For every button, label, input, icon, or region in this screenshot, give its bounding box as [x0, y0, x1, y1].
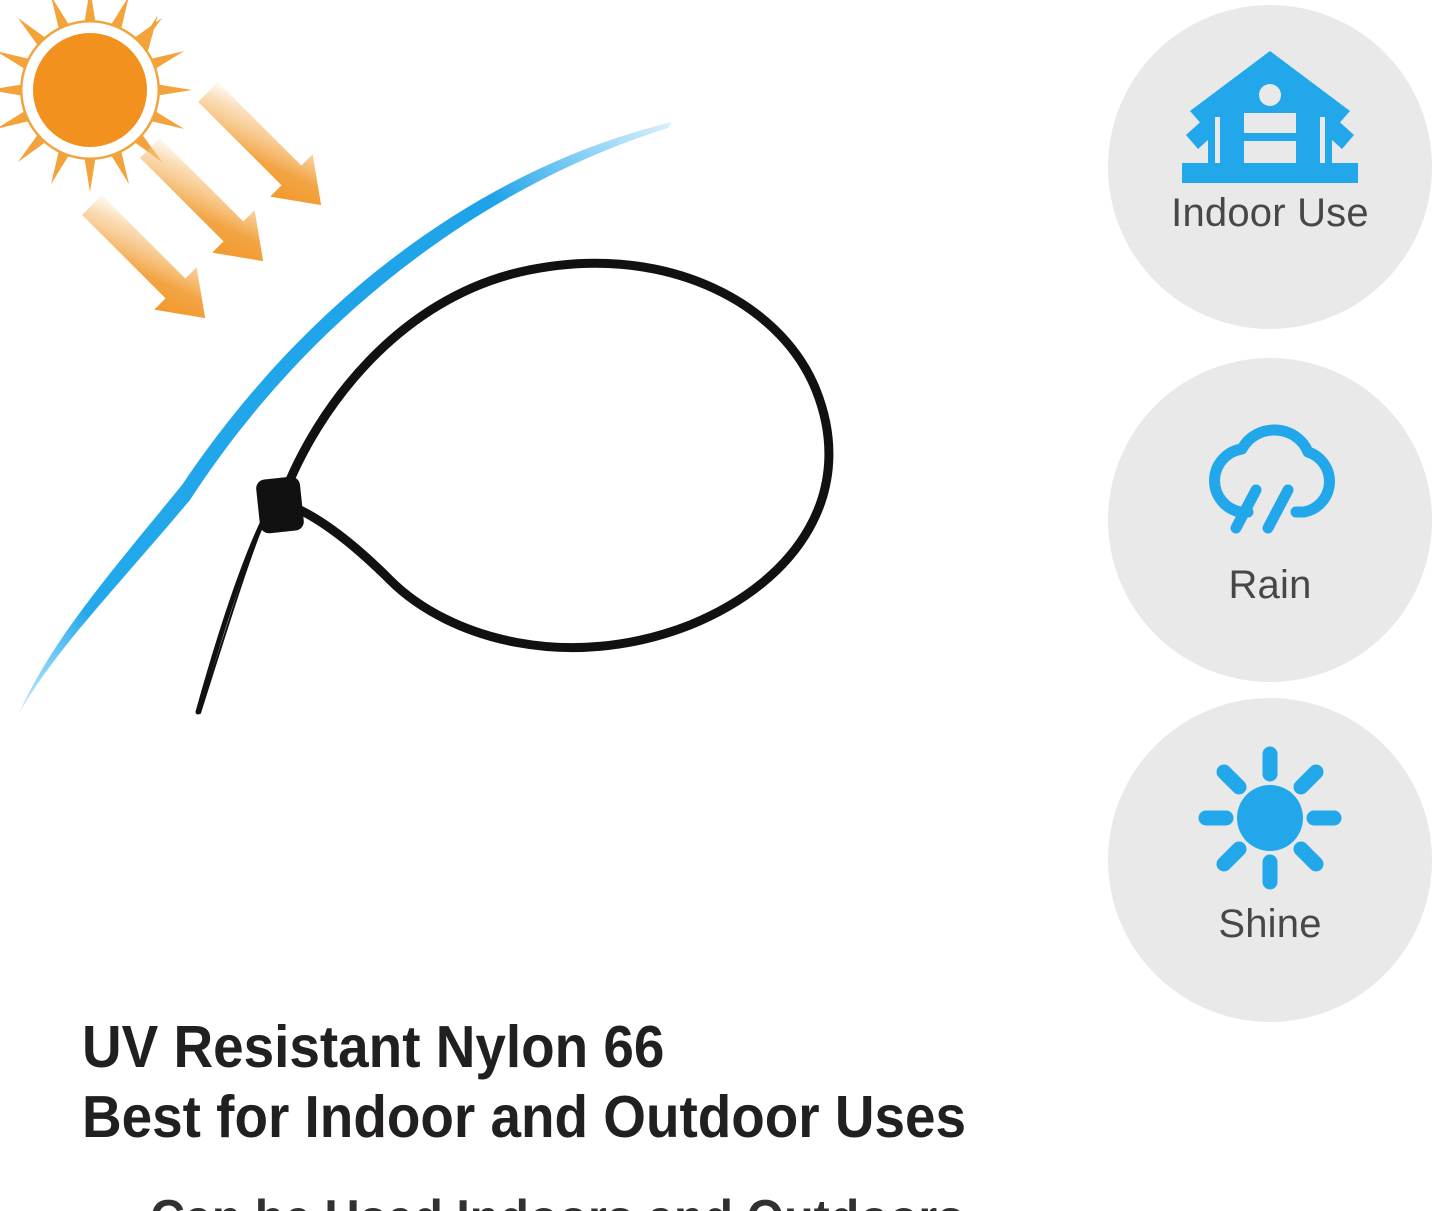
- headline-line-3-clipped: Can be Used Indoors and Outdoors: [150, 1196, 1050, 1211]
- rain-cloud-icon: [1180, 413, 1360, 543]
- headline-line-3: Can be Used Indoors and Outdoors: [150, 1196, 964, 1211]
- product-infographic: Indoor Use Rain: [0, 0, 1432, 1211]
- sun-core: [33, 33, 147, 147]
- sun-shine-icon: [1180, 748, 1360, 888]
- uv-resistant-cable-tie-illustration: [0, 0, 1090, 1000]
- badge-label-rain: Rain: [1228, 565, 1311, 605]
- house-icon: [1180, 47, 1360, 187]
- headline-line-2: Best for Indoor and Outdoor Uses: [82, 1082, 975, 1152]
- badge-label-indoor-use: Indoor Use: [1171, 193, 1369, 233]
- headline-line-1: UV Resistant Nylon 66: [82, 1012, 975, 1082]
- headline-block: UV Resistant Nylon 66 Best for Indoor an…: [82, 1012, 1042, 1152]
- badge-shine[interactable]: Shine: [1108, 698, 1432, 1022]
- cable-tie-head: [255, 476, 304, 534]
- badge-rain[interactable]: Rain: [1108, 358, 1432, 682]
- badge-indoor-use[interactable]: Indoor Use: [1108, 5, 1432, 329]
- feature-badge-column: Indoor Use Rain: [1108, 0, 1432, 1020]
- badge-label-shine: Shine: [1218, 904, 1321, 944]
